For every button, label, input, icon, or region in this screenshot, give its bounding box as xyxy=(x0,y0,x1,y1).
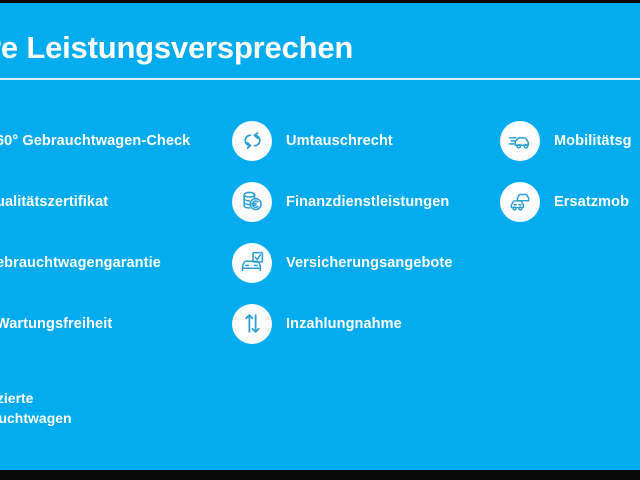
letterbox-bottom-edge xyxy=(0,470,640,480)
car-motion-icon xyxy=(500,121,540,161)
promise-slide: ere Leistungsversprechen 60° Gebrauchtwa… xyxy=(0,0,640,480)
title-divider xyxy=(0,78,640,80)
list-item[interactable]: Versicherungsangebote xyxy=(232,232,562,293)
letterbox-top-edge xyxy=(0,0,640,3)
list-item-label: Mobilitätsg xyxy=(554,133,632,149)
list-item-label: Finanzdienstleistungen xyxy=(286,194,449,210)
page-title: ere Leistungsversprechen xyxy=(0,30,640,66)
column-right: Mobilitätsg Ersatzmob xyxy=(500,110,640,232)
up-down-arrows-icon xyxy=(232,304,272,344)
list-item-label: ebrauchtwagengarantie xyxy=(0,255,161,271)
list-item-label: 60° Gebrauchtwagen-Check xyxy=(0,133,190,149)
certified-used-cars-logo: Zertifizierte Gebrauchtwagen xyxy=(0,388,218,428)
list-item[interactable]: Inzahlungnahme xyxy=(232,293,562,354)
list-item[interactable]: Ersatzmob xyxy=(500,171,640,232)
benefits-grid: 60° Gebrauchtwagen-Check ualitätszertifi… xyxy=(0,110,640,360)
list-item-label: Versicherungsangebote xyxy=(286,255,453,271)
car-checkbox-icon xyxy=(232,243,272,283)
exchange-arrows-icon xyxy=(232,121,272,161)
list-item-label: Inzahlungnahme xyxy=(286,316,402,332)
logo-line-1: Zertifizierte xyxy=(0,388,218,408)
list-item[interactable]: Mobilitätsg xyxy=(500,110,640,171)
logo-line-2: Gebrauchtwagen xyxy=(0,408,218,428)
two-cars-icon xyxy=(500,182,540,222)
list-item-label: Umtauschrecht xyxy=(286,133,393,149)
list-item-label: ualitätszertifikat xyxy=(0,194,108,210)
list-item-label: Wartungsfreiheit xyxy=(0,316,112,332)
coins-euro-icon xyxy=(232,182,272,222)
list-item-label: Ersatzmob xyxy=(554,194,629,210)
